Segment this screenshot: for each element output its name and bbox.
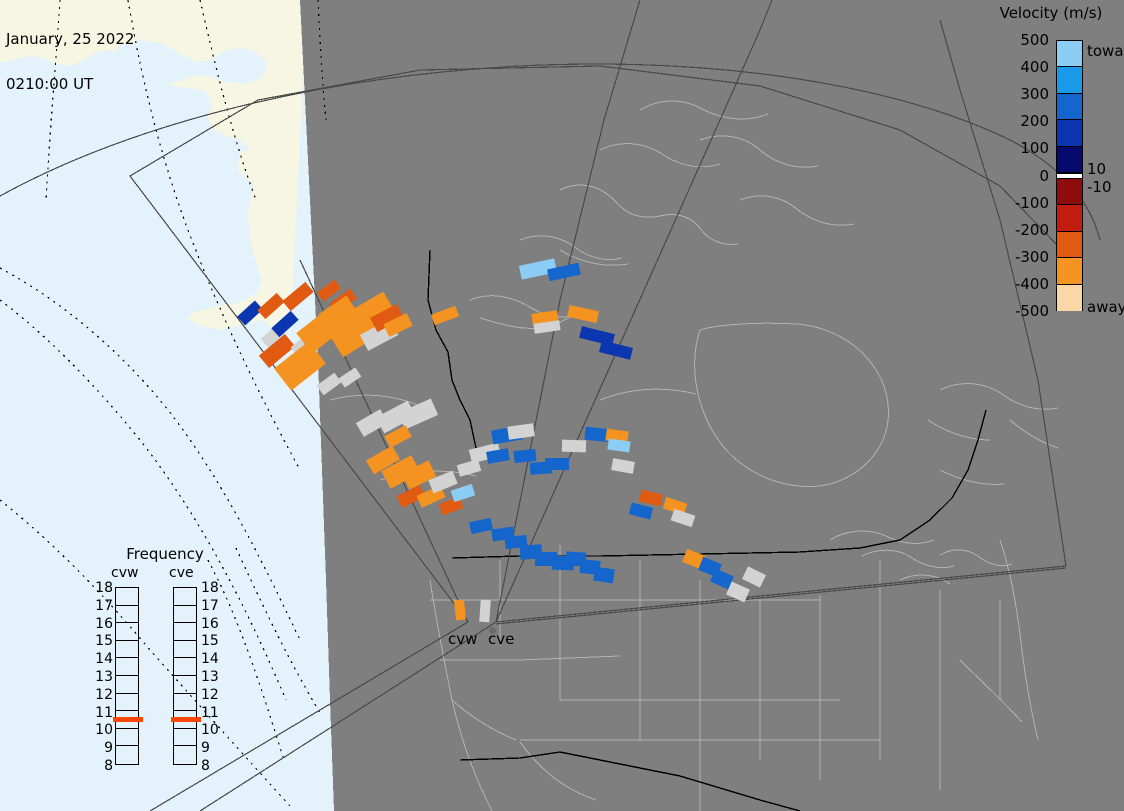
velocity-cell (507, 423, 535, 439)
colorbar-segment (1057, 205, 1082, 231)
colorbar-segment (1057, 258, 1082, 284)
velocity-cell (611, 458, 635, 474)
velocity-cell (479, 600, 491, 623)
colorbar-tick-label: 500 (1020, 33, 1049, 48)
frequency-tick-label: 13 (95, 670, 113, 684)
velocity-cell (282, 282, 313, 311)
frequency-tick-label: 12 (95, 688, 113, 702)
frequency-tick-label: 13 (201, 670, 219, 684)
frequency-tick-label: 8 (95, 759, 113, 773)
colorbar-tick-label: -500 (1015, 304, 1049, 319)
frequency-tick-label: 10 (95, 723, 113, 737)
superdarn-velocity-map: January, 25 2022 0210:00 UT cvw cve Velo… (0, 0, 1124, 811)
frequency-scale-cve[interactable] (173, 587, 197, 765)
frequency-tick-label: 8 (201, 759, 210, 773)
velocity-cell (567, 305, 599, 323)
frequency-tick-label: 17 (201, 599, 219, 613)
colorbar-inner-high-label: 10 (1087, 162, 1106, 177)
frequency-scale-cell (174, 694, 196, 712)
colorbar-gradient[interactable] (1056, 40, 1083, 311)
velocity-cell (599, 340, 633, 359)
colorbar-tick-label: 300 (1020, 87, 1049, 102)
frequency-scale-cell (174, 588, 196, 606)
frequency-tick-label: 11 (95, 706, 113, 720)
frequency-scale-cell (174, 676, 196, 694)
colorbar-tick-label: -300 (1015, 250, 1049, 265)
velocity-cell (629, 503, 653, 520)
frequency-scale-cell (116, 623, 138, 641)
frequency-column-label-cve: cve (169, 565, 194, 581)
timestamp-date: January, 25 2022 (6, 32, 134, 47)
velocity-cell (562, 440, 586, 453)
colorbar-segment (1057, 285, 1082, 311)
velocity-cell (533, 320, 560, 334)
frequency-tick-label: 18 (95, 581, 113, 595)
frequency-scale-cell (174, 641, 196, 659)
timestamp-time: 0210:00 UT (6, 77, 134, 92)
frequency-scale-cell (116, 729, 138, 747)
frequency-marker-cve (171, 717, 201, 722)
radar-site-label-cvw: cvw (448, 630, 477, 648)
frequency-scale-cell (116, 606, 138, 624)
frequency-marker-cvw (113, 717, 143, 722)
colorbar-toward-label: toward (1087, 44, 1124, 59)
velocity-cell (431, 306, 459, 325)
colorbar-inner-low-label: -10 (1087, 180, 1112, 195)
colorbar-tick-label: -100 (1015, 196, 1049, 211)
frequency-tick-label: 17 (95, 599, 113, 613)
frequency-scale-cell (174, 606, 196, 624)
frequency-tick-label: 15 (201, 634, 219, 648)
velocity-colorbar: Velocity (m/s) 5004003002001000-100-200-… (985, 0, 1124, 340)
frequency-scale-cell (116, 641, 138, 659)
colorbar-segment (1057, 147, 1082, 173)
colorbar-away-label: away (1087, 300, 1124, 315)
velocity-cell (454, 600, 466, 621)
velocity-cell (593, 567, 615, 584)
frequency-tick-label: 15 (95, 634, 113, 648)
velocity-cell (451, 484, 476, 502)
colorbar-segment (1057, 179, 1082, 205)
frequency-scale-cell (116, 676, 138, 694)
frequency-tick-label: 14 (95, 652, 113, 666)
velocity-cell (639, 490, 663, 507)
frequency-scale-cell (174, 746, 196, 764)
colorbar-segment (1057, 120, 1082, 146)
frequency-tick-label: 9 (201, 741, 210, 755)
frequency-legend: Frequency cvw cve 18171615141312111098 1… (95, 545, 240, 795)
velocity-cell (742, 566, 766, 587)
colorbar-tick-label: 200 (1020, 114, 1049, 129)
frequency-column-label-cvw: cvw (111, 565, 138, 581)
frequency-scale-cell (116, 694, 138, 712)
colorbar-segment (1057, 94, 1082, 120)
frequency-tick-label: 16 (201, 617, 219, 631)
frequency-tick-label: 10 (201, 723, 219, 737)
colorbar-title: Velocity (m/s) (985, 4, 1117, 22)
frequency-tick-label: 11 (201, 706, 219, 720)
velocity-cell (726, 582, 750, 603)
frequency-tick-label: 18 (201, 581, 219, 595)
colorbar-tick-label: -400 (1015, 277, 1049, 292)
frequency-scale-cell (174, 729, 196, 747)
colorbar-segment (1057, 67, 1082, 93)
velocity-cell (486, 448, 510, 464)
frequency-tick-label: 14 (201, 652, 219, 666)
velocity-cell (545, 458, 569, 470)
colorbar-segment (1057, 232, 1082, 258)
frequency-title: Frequency (95, 545, 235, 563)
velocity-cell (469, 518, 493, 534)
frequency-scale-cell (116, 658, 138, 676)
velocity-cell (339, 367, 362, 387)
frequency-tick-label: 9 (95, 741, 113, 755)
frequency-tick-label: 16 (95, 617, 113, 631)
colorbar-tick-label: -200 (1015, 223, 1049, 238)
frequency-scale-cvw[interactable] (115, 587, 139, 765)
frequency-scale-cell (116, 588, 138, 606)
colorbar-tick-label: 0 (1039, 169, 1049, 184)
frequency-scale-cell (116, 746, 138, 764)
frequency-tick-label: 12 (201, 688, 219, 702)
velocity-cell (257, 293, 284, 319)
velocity-cell (513, 449, 536, 463)
velocity-cell (671, 509, 696, 527)
colorbar-tick-label: 100 (1020, 141, 1049, 156)
radar-site-label-cve: cve (488, 630, 514, 648)
velocity-cell (317, 373, 342, 396)
frequency-scale-cell (174, 623, 196, 641)
colorbar-tick-label: 400 (1020, 60, 1049, 75)
frequency-scale-cell (174, 658, 196, 676)
colorbar-segment (1057, 41, 1082, 67)
timestamp: January, 25 2022 0210:00 UT (6, 2, 134, 122)
velocity-cell (607, 439, 630, 453)
